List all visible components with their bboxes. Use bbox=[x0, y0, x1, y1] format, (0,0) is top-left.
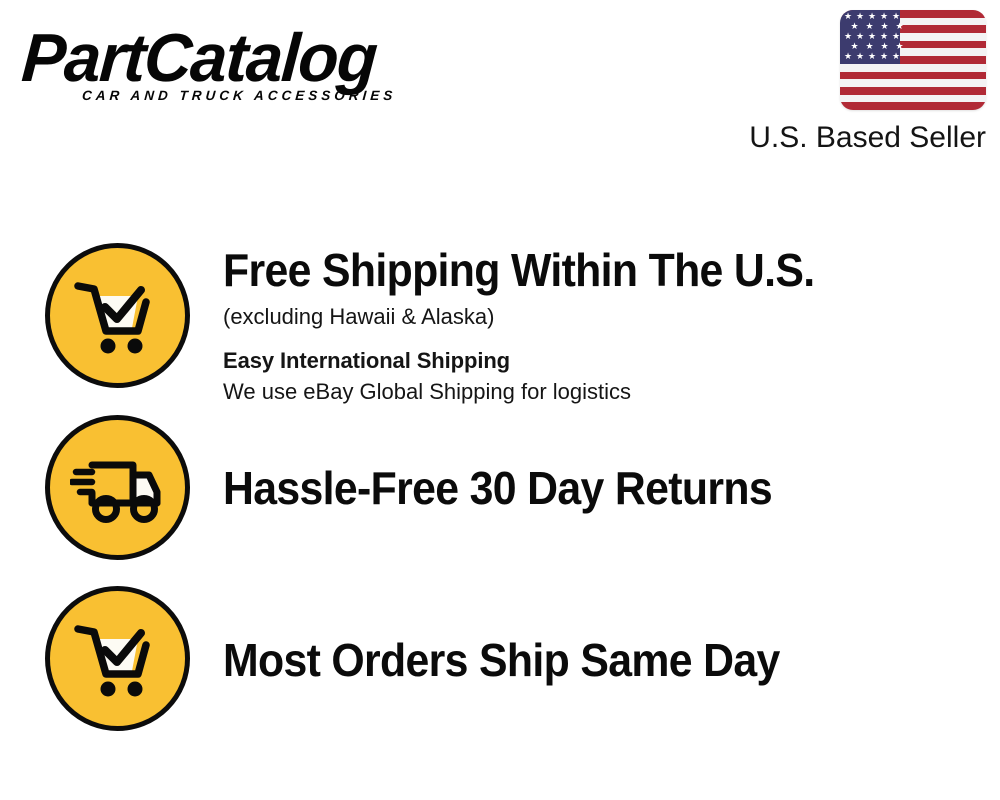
feature-title: Hassle-Free 30 Day Returns bbox=[223, 463, 932, 513]
brand-logo[interactable]: PartCatalog CAR AND TRUCK ACCESSORIES bbox=[22, 22, 492, 104]
feature-note: (excluding Hawaii & Alaska) bbox=[223, 302, 985, 332]
fast-delivery-truck-icon bbox=[45, 415, 190, 560]
feature-title: Free Shipping Within The U.S. bbox=[223, 245, 932, 295]
page-header: PartCatalog CAR AND TRUCK ACCESSORIES ★★… bbox=[0, 0, 1000, 175]
shopping-cart-check-icon bbox=[45, 586, 190, 731]
feature-text-block: Free Shipping Within The U.S. (excluding… bbox=[190, 243, 985, 407]
brand-wordmark: PartCatalog bbox=[20, 22, 481, 94]
us-based-seller-badge: ★★★★★ ★★★★ ★★★★★ ★★★★ ★★★★★ U.S. Based S… bbox=[714, 10, 986, 155]
feature-text-block: Hassle-Free 30 Day Returns bbox=[190, 415, 985, 513]
flag-canton: ★★★★★ ★★★★ ★★★★★ ★★★★ ★★★★★ bbox=[840, 10, 900, 64]
feature-title: Most Orders Ship Same Day bbox=[223, 635, 932, 685]
us-flag-icon: ★★★★★ ★★★★ ★★★★★ ★★★★ ★★★★★ bbox=[840, 10, 986, 110]
brand-tagline: CAR AND TRUCK ACCESSORIES bbox=[81, 88, 492, 104]
feature-row: Most Orders Ship Same Day bbox=[45, 586, 985, 731]
feature-subheading: Easy International Shipping bbox=[223, 346, 985, 376]
us-based-seller-label: U.S. Based Seller bbox=[714, 121, 986, 155]
shopping-cart-check-icon bbox=[45, 243, 190, 388]
feature-detail: We use eBay Global Shipping for logistic… bbox=[223, 377, 985, 407]
feature-row: Free Shipping Within The U.S. (excluding… bbox=[45, 243, 985, 407]
feature-text-block: Most Orders Ship Same Day bbox=[190, 586, 985, 685]
feature-row: Hassle-Free 30 Day Returns bbox=[45, 415, 985, 560]
